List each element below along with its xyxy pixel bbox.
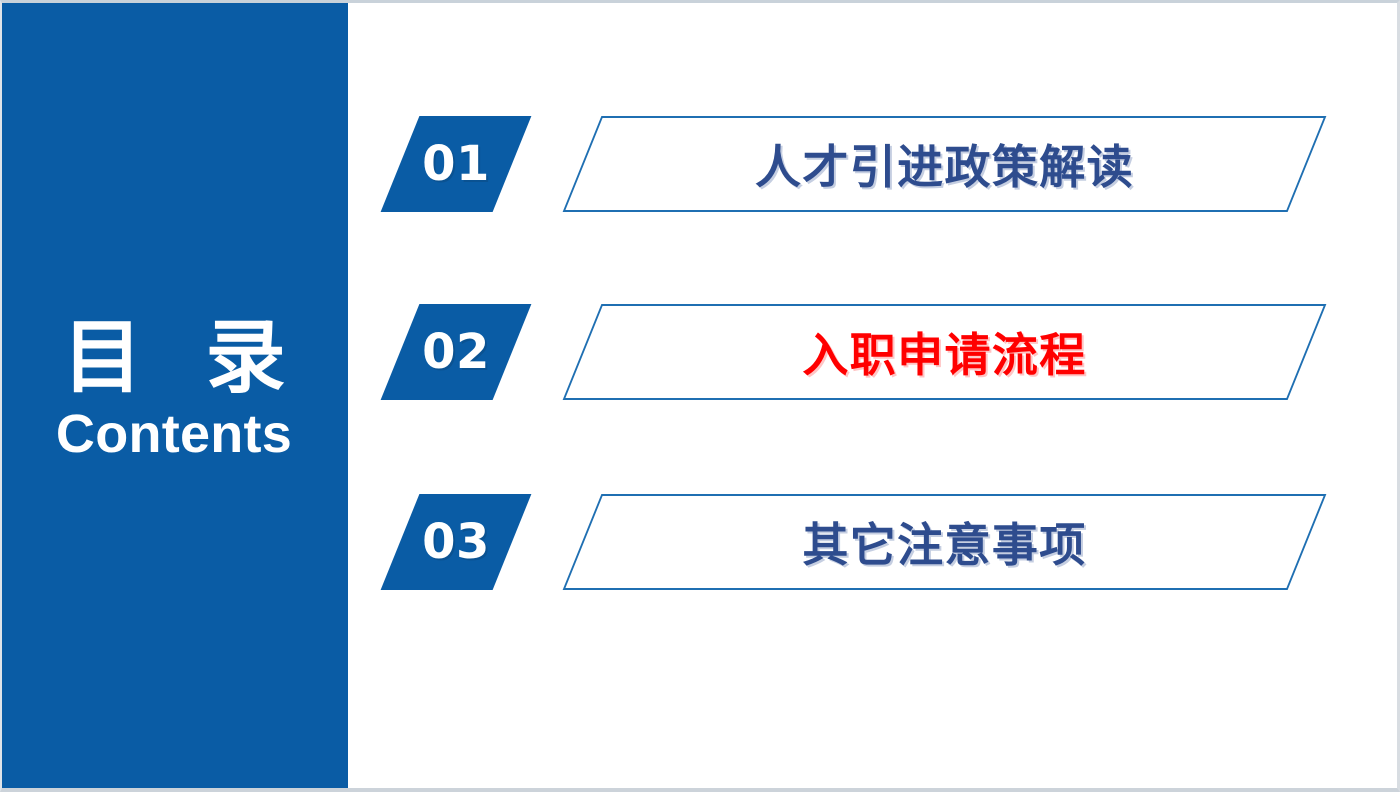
- slide-canvas: 目 录 Contents 01 人才引进政策解读 02 入职申请流程 03 其它…: [0, 0, 1400, 792]
- agenda-number-label-02: 02: [400, 304, 512, 400]
- agenda-title-03: 其它注意事项: [582, 494, 1307, 590]
- agenda-item-03[interactable]: 03 其它注意事项: [350, 492, 1400, 592]
- agenda-title-02: 入职申请流程: [582, 304, 1307, 400]
- agenda-item-01[interactable]: 01 人才引进政策解读: [350, 114, 1400, 214]
- agenda-item-02[interactable]: 02 入职申请流程: [350, 302, 1400, 402]
- sidebar-title-chinese: 目 录: [0, 320, 348, 396]
- agenda-number-label-03: 03: [400, 494, 512, 590]
- agenda-number-label-01: 01: [400, 116, 512, 212]
- contents-sidebar: 目 录 Contents: [0, 0, 348, 792]
- agenda-title-01: 人才引进政策解读: [582, 116, 1307, 212]
- sidebar-title-english: Contents: [0, 406, 348, 463]
- sidebar-title-block: 目 录 Contents: [0, 320, 348, 463]
- agenda-list: 01 人才引进政策解读 02 入职申请流程 03 其它注意事项: [350, 3, 1397, 788]
